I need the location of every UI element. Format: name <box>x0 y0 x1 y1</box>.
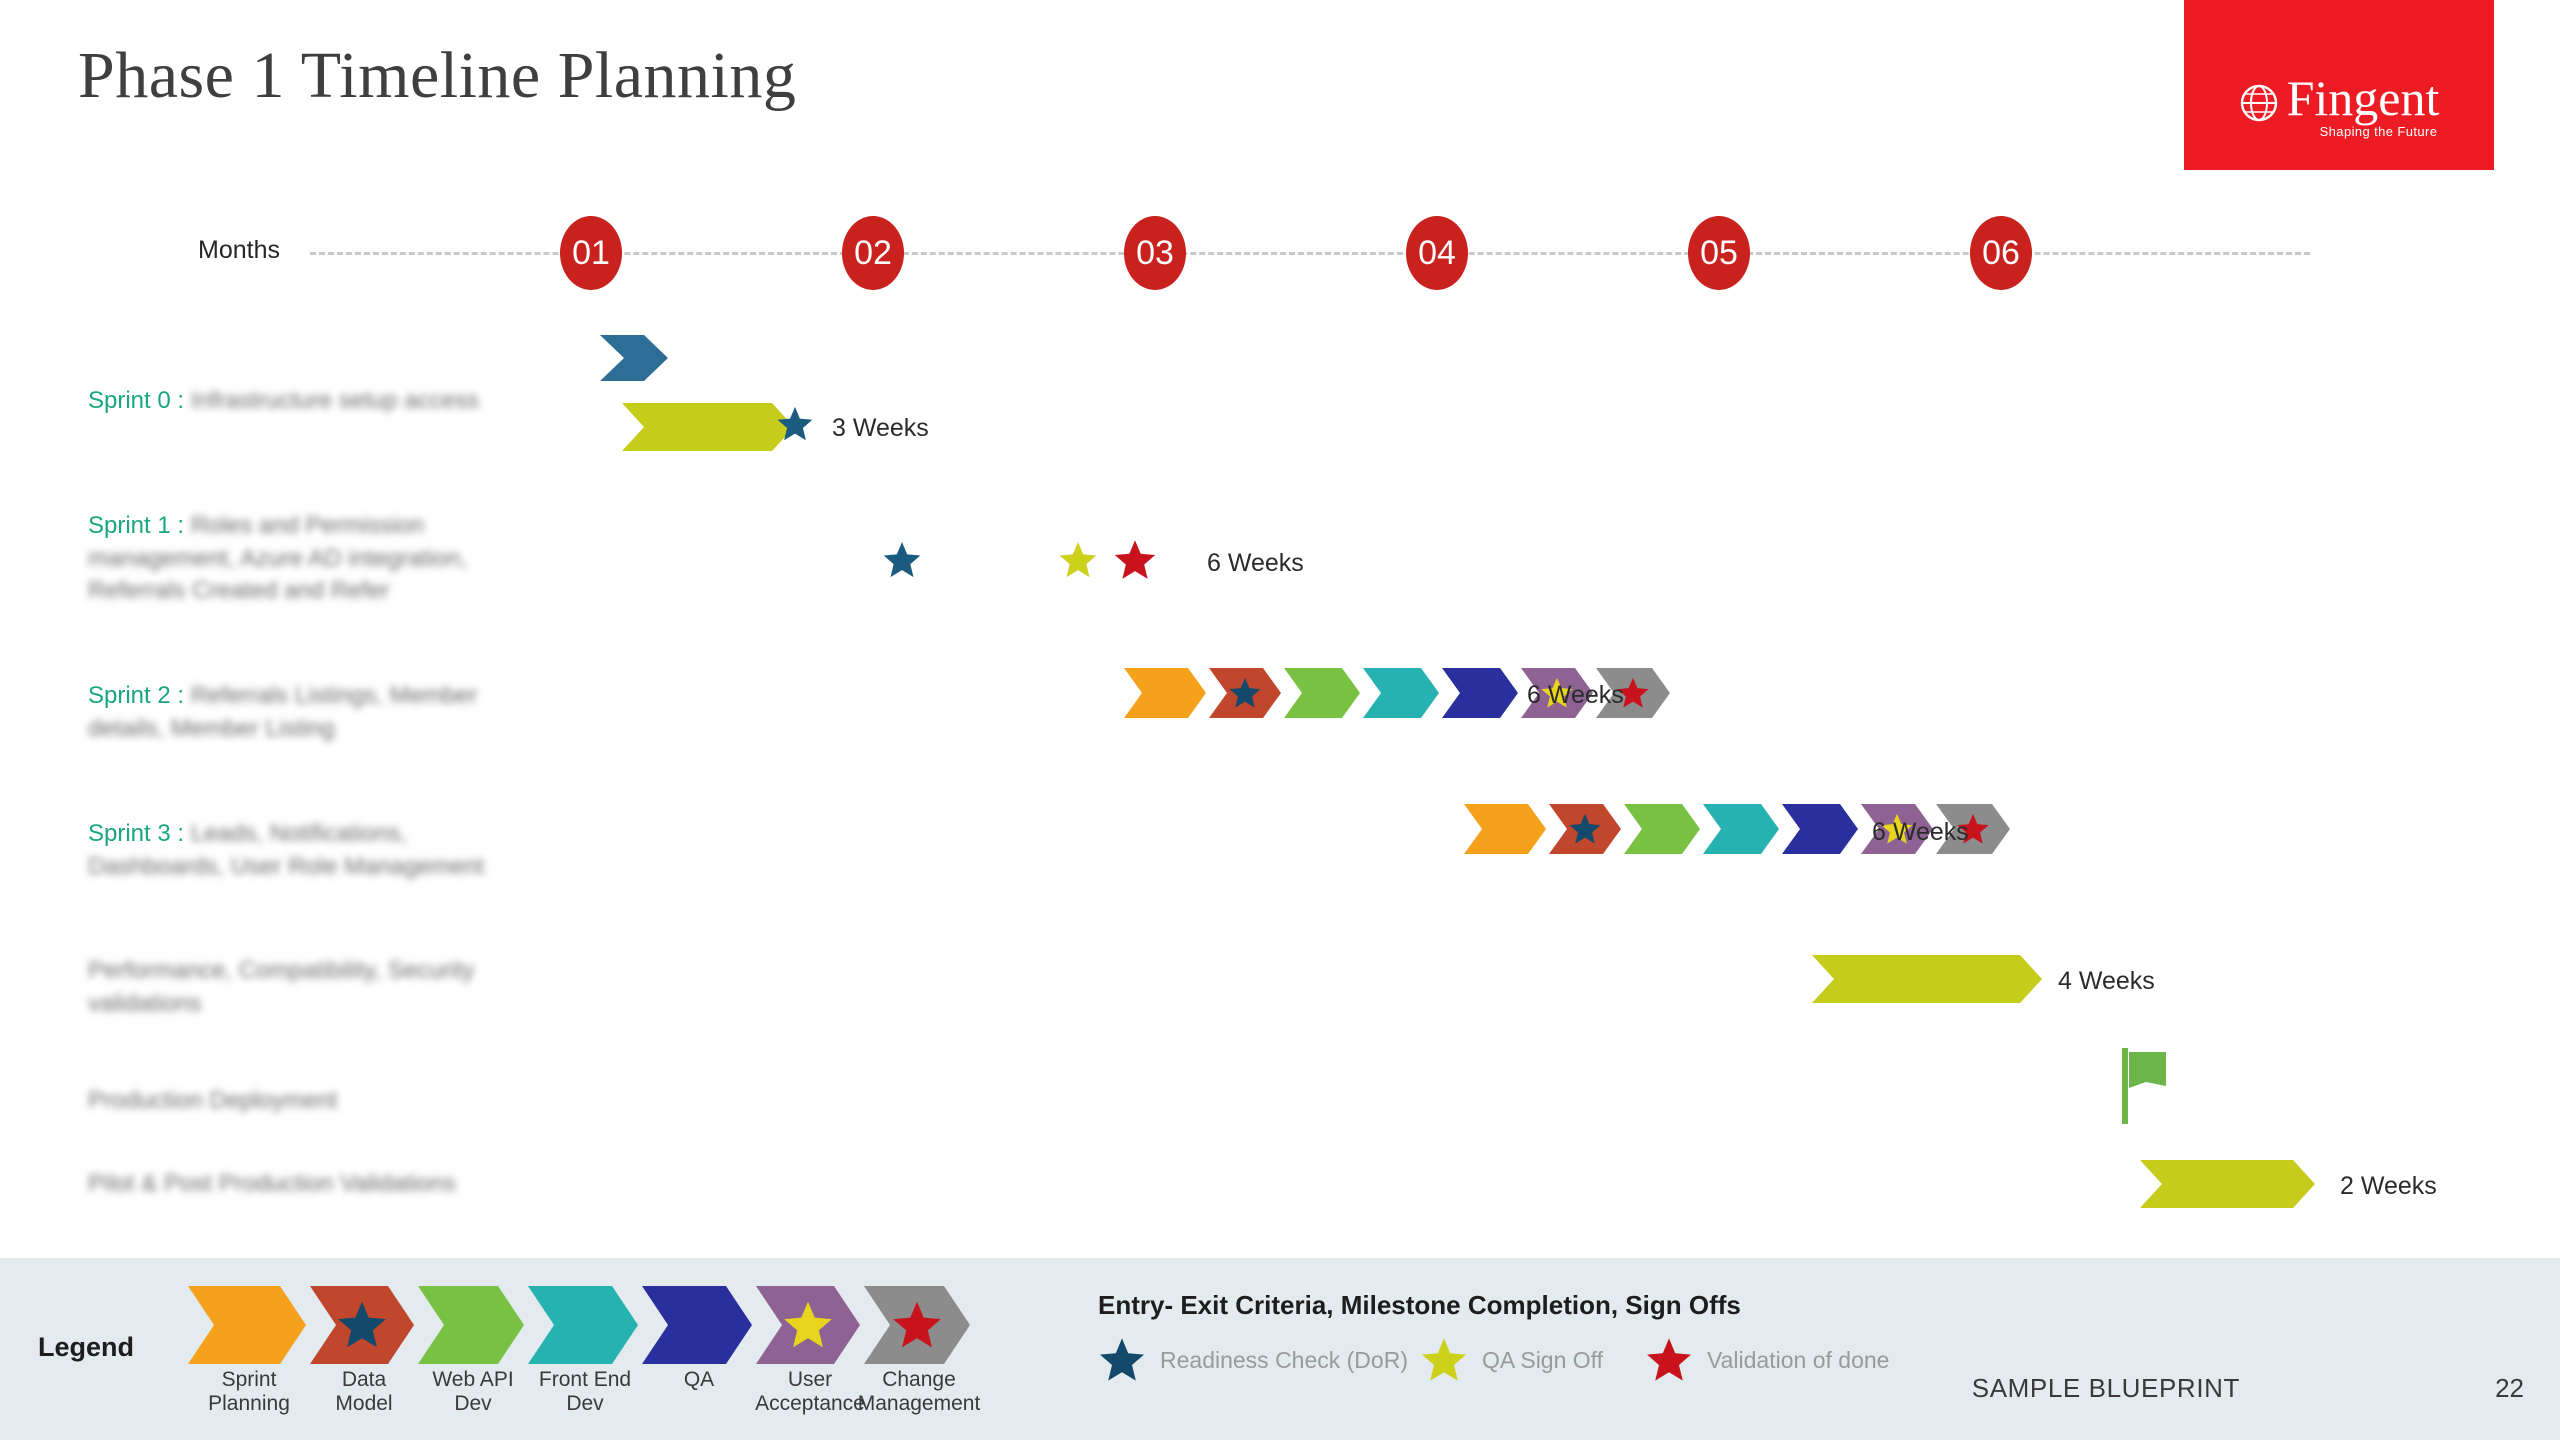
star-legend-qa-sign-off: QA Sign Off <box>1420 1336 1603 1384</box>
star-icon <box>1420 1336 1468 1384</box>
star-icon <box>1228 676 1262 710</box>
chevron-qa[interactable] <box>1782 804 1858 854</box>
legend-label-front-end-dev: Front EndDev <box>539 1368 631 1416</box>
month-marker-label: 05 <box>1700 234 1738 273</box>
row-label-pilot-validations: Pilot & Post Production Validations <box>88 1168 528 1201</box>
row-description: Infrastructure setup access <box>191 387 479 414</box>
milestone-star-sprint-1-0[interactable] <box>882 540 922 585</box>
sprint-tag: Sprint 2 : <box>88 682 191 709</box>
row-label-sprint-0: Sprint 0 : Infrastructure setup access <box>88 385 528 418</box>
legend-chevron-user-acceptance <box>756 1286 860 1364</box>
star-icon <box>1568 812 1602 846</box>
chevron-web-api-dev[interactable] <box>1284 668 1360 718</box>
legend-item-web-api-dev[interactable]: Web APIDev <box>418 1286 528 1364</box>
legend-item-sprint-planning[interactable]: SprintPlanning <box>188 1286 310 1364</box>
row-label-sprint-2: Sprint 2 : Referrals Listings, Member de… <box>88 680 528 745</box>
bar-steel-sprint-0[interactable] <box>600 335 668 381</box>
legend-label-user-acceptance: UserAcceptance <box>755 1368 865 1416</box>
legend-chevron-front-end-dev <box>528 1286 638 1364</box>
bar-olive-pilot-validations[interactable] <box>2140 1160 2315 1208</box>
month-marker-label: 03 <box>1136 234 1174 273</box>
legend-item-qa[interactable]: QA <box>642 1286 756 1364</box>
legend-label-web-api-dev: Web APIDev <box>432 1368 513 1416</box>
bar-olive-validations[interactable] <box>1812 955 2042 1003</box>
sprint-tag: Sprint 0 : <box>88 387 191 414</box>
star-legend-text: Readiness Check (DoR) <box>1160 1347 1408 1374</box>
legend-label-sprint-planning: SprintPlanning <box>208 1368 290 1416</box>
month-marker-03[interactable]: 03 <box>1124 216 1186 290</box>
star-icon <box>1113 538 1157 582</box>
months-axis-label: Months <box>198 236 280 265</box>
month-marker-02[interactable]: 02 <box>842 216 904 290</box>
star-icon <box>782 1299 834 1351</box>
row-label-sprint-3: Sprint 3 : Leads, Notifications, Dashboa… <box>88 818 528 883</box>
month-marker-label: 06 <box>1982 234 2020 273</box>
star-icon <box>1058 540 1098 580</box>
chevron-front-end-dev[interactable] <box>1363 668 1439 718</box>
legend-label-change-management: ChangeManagement <box>858 1368 981 1416</box>
page-title: Phase 1 Timeline Planning <box>78 38 796 114</box>
legend-band: Legend SprintPlanningDataModelWeb APIDev… <box>0 1258 2560 1440</box>
row-label-sprint-1: Sprint 1 : Roles and Permission manageme… <box>88 510 528 608</box>
page-number: 22 <box>2495 1373 2524 1404</box>
legend-item-data-model[interactable]: DataModel <box>310 1286 418 1364</box>
legend-item-front-end-dev[interactable]: Front EndDev <box>528 1286 642 1364</box>
legend-label-data-model: DataModel <box>335 1368 392 1416</box>
legend-item-user-acceptance[interactable]: UserAcceptance <box>756 1286 864 1364</box>
globe-icon <box>2239 83 2279 123</box>
legend-label-qa: QA <box>684 1368 714 1392</box>
footer-note: SAMPLE BLUEPRINT <box>1972 1373 2240 1404</box>
row-label-validations: Performance, Compatibility, Security val… <box>88 955 528 1020</box>
legend-chevron-web-api-dev <box>418 1286 524 1364</box>
row-label-production-deployment: Production Deployment <box>88 1085 528 1118</box>
milestone-flag-production-deployment[interactable] <box>2118 1046 2174 1131</box>
legend-chevron-sprint-planning <box>188 1286 306 1364</box>
row-description: Production Deployment <box>88 1087 337 1114</box>
duration-label-sprint-1: 6 Weeks <box>1207 549 1304 578</box>
legend-item-change-management[interactable]: ChangeManagement <box>864 1286 974 1364</box>
legend-chevron-qa <box>642 1286 752 1364</box>
month-marker-label: 04 <box>1418 234 1456 273</box>
duration-label-validations: 4 Weeks <box>2058 967 2155 996</box>
chevron-sprint-planning[interactable] <box>1124 668 1206 718</box>
brand-tagline: Shaping the Future <box>2320 126 2438 138</box>
sprint-tag: Sprint 3 : <box>88 820 191 847</box>
brand-wordmark: Fingent Shaping the Future <box>2287 75 2440 123</box>
chevron-front-end-dev[interactable] <box>1703 804 1779 854</box>
milestone-star-sprint-1-1[interactable] <box>1058 540 1098 585</box>
month-marker-05[interactable]: 05 <box>1688 216 1750 290</box>
month-marker-01[interactable]: 01 <box>560 216 622 290</box>
milestone-star-sprint-1-2[interactable] <box>1113 538 1157 587</box>
duration-label-sprint-2: 6 Weeks <box>1527 681 1624 710</box>
duration-label-pilot-validations: 2 Weeks <box>2340 1172 2437 1201</box>
star-icon <box>336 1299 388 1351</box>
star-legend-text: QA Sign Off <box>1482 1347 1603 1374</box>
star-icon <box>891 1299 943 1351</box>
brand-logo: Fingent Shaping the Future <box>2184 0 2494 170</box>
slide-canvas: Phase 1 Timeline Planning Fingent Shapin… <box>0 0 2560 1440</box>
star-legend-readiness-check: Readiness Check (DoR) <box>1098 1336 1408 1384</box>
flag-icon <box>2118 1046 2174 1126</box>
chevron-qa[interactable] <box>1442 668 1518 718</box>
bar-olive-sprint-0[interactable] <box>622 403 794 451</box>
legend-chevron-list: SprintPlanningDataModelWeb APIDevFront E… <box>188 1286 974 1364</box>
legend-chevron-data-model <box>310 1286 414 1364</box>
month-marker-04[interactable]: 04 <box>1406 216 1468 290</box>
star-legend-text: Validation of done <box>1707 1347 1889 1374</box>
brand-name: Fingent <box>2287 70 2440 126</box>
month-marker-label: 02 <box>854 234 892 273</box>
milestone-star-sprint-0-0[interactable] <box>776 405 814 448</box>
chevron-web-api-dev[interactable] <box>1624 804 1700 854</box>
sprint-tag: Sprint 1 : <box>88 512 191 539</box>
criteria-title: Entry- Exit Criteria, Milestone Completi… <box>1098 1290 1741 1321</box>
month-marker-label: 01 <box>572 234 610 273</box>
star-icon <box>1098 1336 1146 1384</box>
duration-label-sprint-3: 6 Weeks <box>1872 818 1969 847</box>
chevron-data-model[interactable] <box>1549 804 1621 854</box>
star-legend-validation-of-done: Validation of done <box>1645 1336 1889 1384</box>
star-icon <box>882 540 922 580</box>
star-icon <box>1645 1336 1693 1384</box>
chevron-data-model[interactable] <box>1209 668 1281 718</box>
legend-chevron-change-management <box>864 1286 970 1364</box>
row-description: Pilot & Post Production Validations <box>88 1170 456 1197</box>
duration-label-sprint-0: 3 Weeks <box>832 414 929 443</box>
star-icon <box>776 405 814 443</box>
row-description: Performance, Compatibility, Security val… <box>88 957 474 1017</box>
chevron-sprint-planning[interactable] <box>1464 804 1546 854</box>
legend-title: Legend <box>38 1332 134 1363</box>
month-marker-06[interactable]: 06 <box>1970 216 2032 290</box>
